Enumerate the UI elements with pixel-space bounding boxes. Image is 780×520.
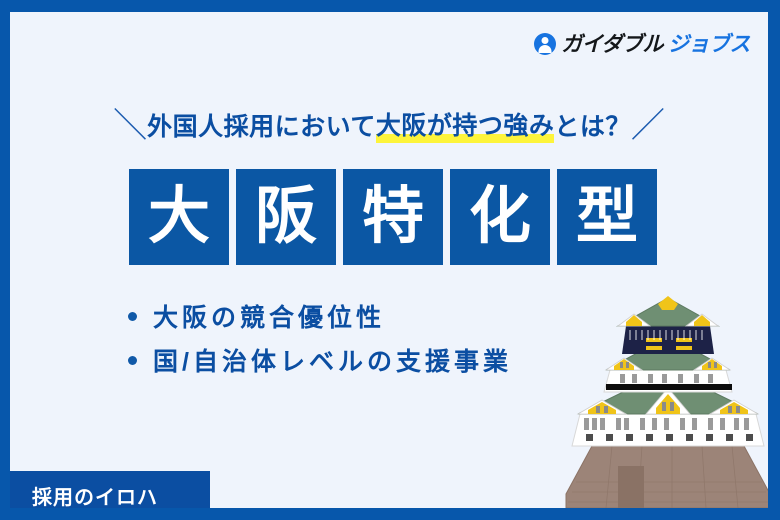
headline-suffix: とは？ [554,107,631,143]
slash-left-decoration: ＼ [113,98,147,147]
person-circle-icon [534,33,556,55]
logo-text-primary: ガイダブル [561,34,663,55]
list-item: 国/自治体レベルの支援事業 [128,338,512,382]
title-tile: 特 [343,169,443,265]
headline: ＼外国人採用において大阪が持つ強みとは？／ [10,100,768,149]
category-badge: 採用のイロハ [10,471,210,508]
headline-prefix: 外国人採用において [147,107,376,143]
title-tile: 阪 [236,169,336,265]
logo-text-secondary: ジョブス [668,34,750,55]
headline-highlighted: 大阪が持つ強み [376,106,555,143]
osaka-castle-illustration [562,296,768,508]
title-tile: 大 [129,169,229,265]
content-panel: ガイダブル ジョブス ＼外国人採用において大阪が持つ強みとは？／ 大 阪 特 化… [10,12,768,508]
title-tile: 型 [557,169,657,265]
slash-right-decoration: ／ [631,98,665,147]
brand-logo: ガイダブル ジョブス [534,30,750,58]
bullet-list: 大阪の競合優位性 国/自治体レベルの支援事業 [128,294,512,382]
slide-canvas: ガイダブル ジョブス ＼外国人採用において大阪が持つ強みとは？／ 大 阪 特 化… [0,0,780,520]
title-tile: 化 [450,169,550,265]
list-item: 大阪の競合優位性 [128,294,512,338]
list-item-label: 国/自治体レベルの支援事業 [153,342,512,378]
category-badge-label: 採用のイロハ [32,481,158,508]
list-item-label: 大阪の競合優位性 [153,298,385,334]
title-tile-group: 大 阪 特 化 型 [129,169,657,265]
bullet-dot-icon [128,356,137,365]
bullet-dot-icon [128,312,137,321]
